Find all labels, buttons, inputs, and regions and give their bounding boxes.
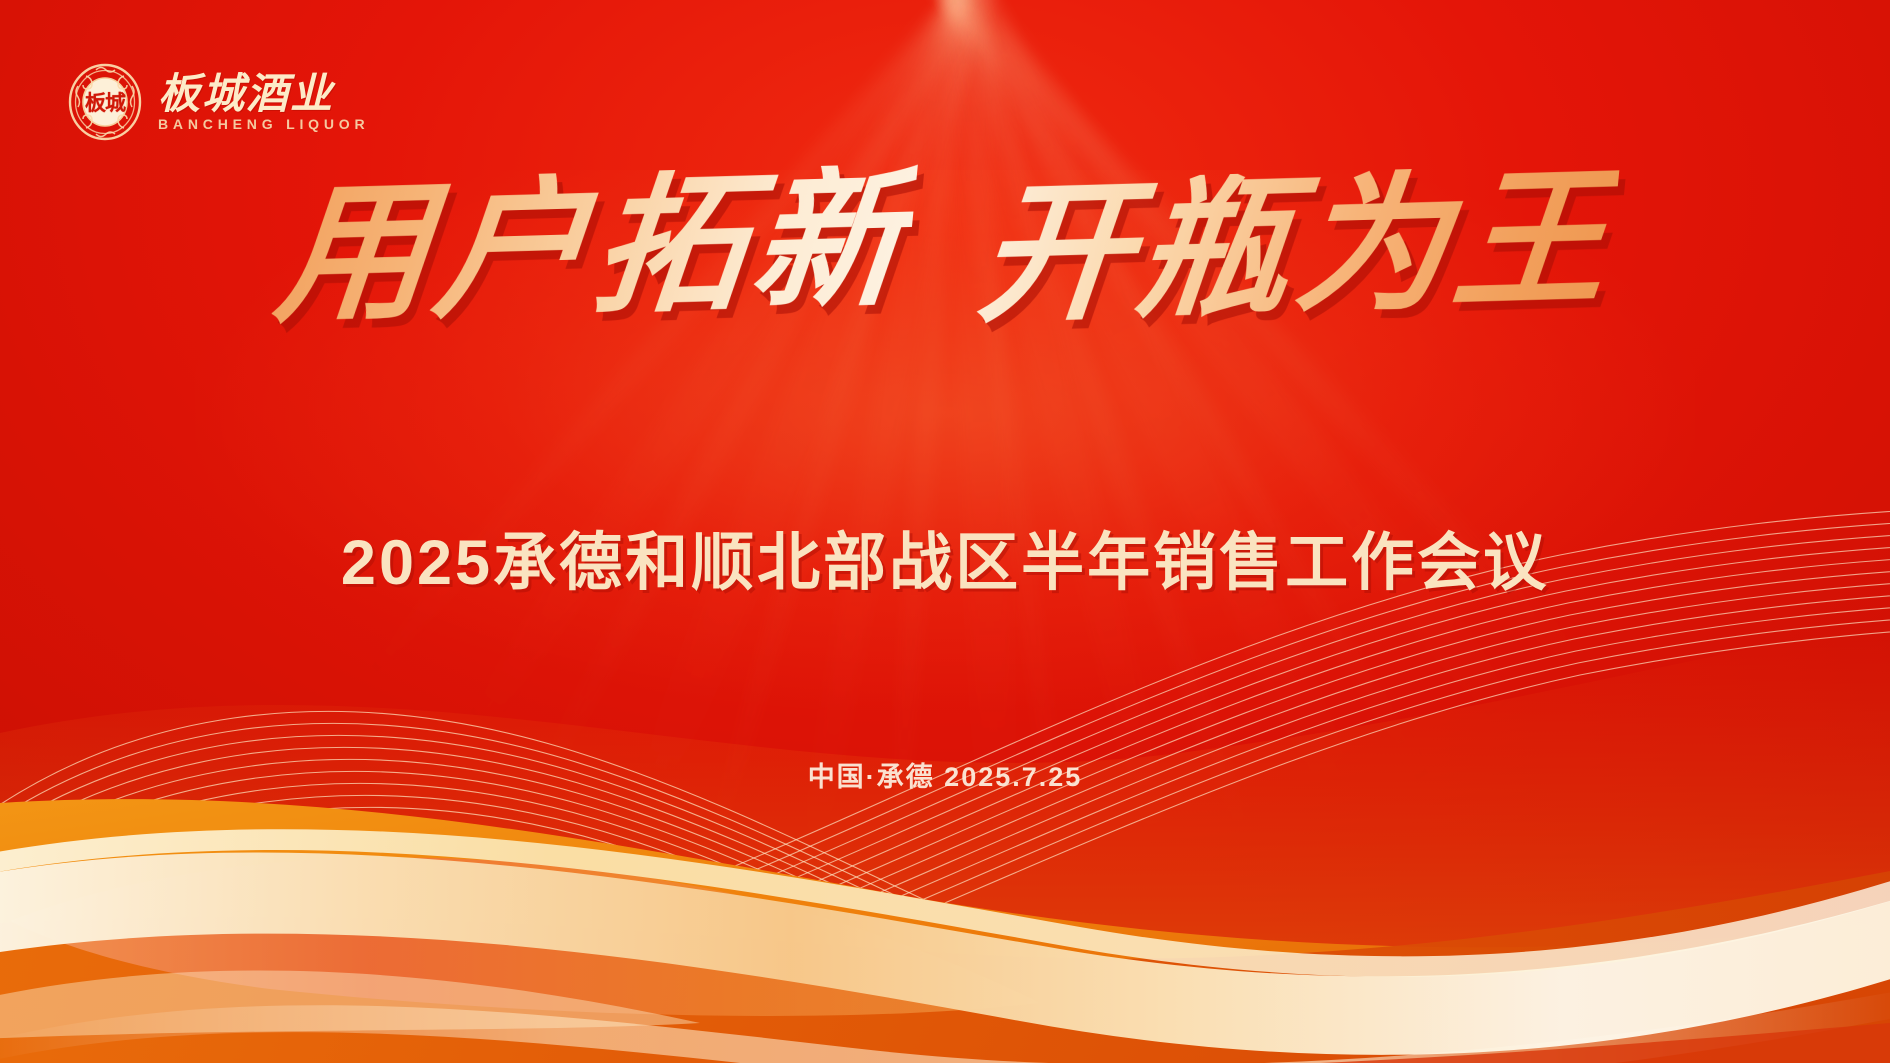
headline-phrase-2: 开瓶为王 bbox=[972, 163, 1620, 333]
headline-phrase-1: 用户拓新 bbox=[270, 163, 918, 333]
event-subtitle: 2025承德和顺北部战区半年销售工作会议 bbox=[0, 512, 1890, 603]
seal-label: 板城 bbox=[66, 62, 144, 142]
brand-wordmark: 板城酒业 BANCHENG LIQUOR bbox=[158, 72, 361, 132]
poster-canvas: 板城 板城酒业 BANCHENG LIQUOR 用户拓新 开瓶为王 2025承德… bbox=[0, 0, 1890, 1063]
event-dateline: 中国·承德 2025.7.25 bbox=[0, 755, 1890, 794]
brand-name-cn: 板城酒业 bbox=[158, 74, 361, 116]
seal-icon: 板城 bbox=[66, 62, 144, 142]
brand-name-en: BANCHENG LIQUOR bbox=[158, 118, 369, 132]
headline: 用户拓新 开瓶为王 bbox=[0, 172, 1890, 324]
brand-logo[interactable]: 板城 板城酒业 BANCHENG LIQUOR bbox=[66, 62, 361, 142]
